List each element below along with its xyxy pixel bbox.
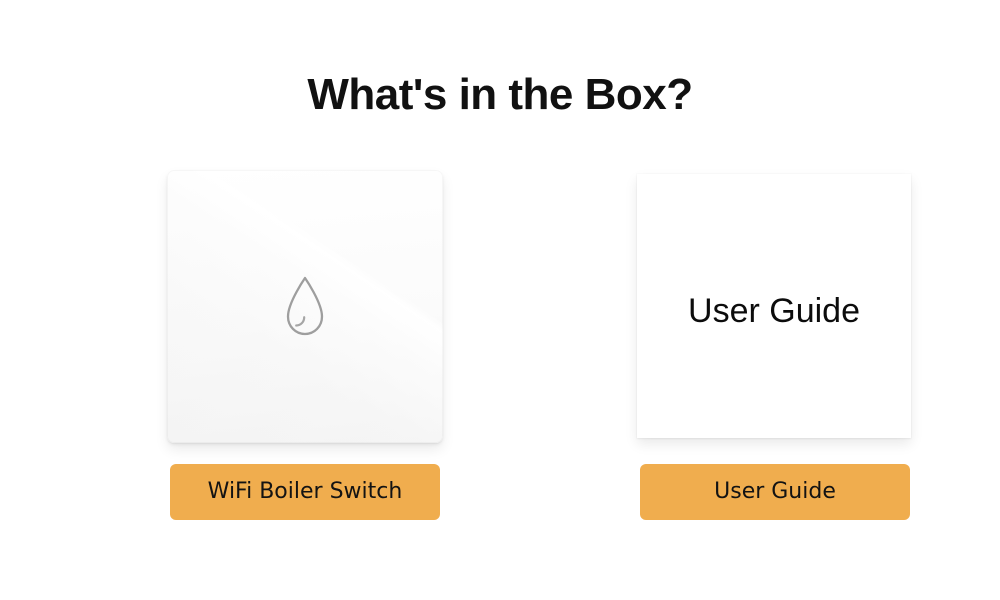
whats-in-the-box-page: What's in the Box? WiFi Boiler Switch Us… [0, 0, 1000, 600]
user-guide-cover-text: User Guide [637, 292, 911, 331]
caption-button-user-guide[interactable]: User Guide [640, 464, 910, 520]
product-image-wifi-boiler-switch [167, 170, 443, 443]
page-title: What's in the Box? [0, 71, 1000, 119]
product-image-user-guide: User Guide [637, 174, 911, 438]
water-droplet-icon [283, 274, 327, 340]
caption-button-wifi-boiler-switch[interactable]: WiFi Boiler Switch [170, 464, 440, 520]
